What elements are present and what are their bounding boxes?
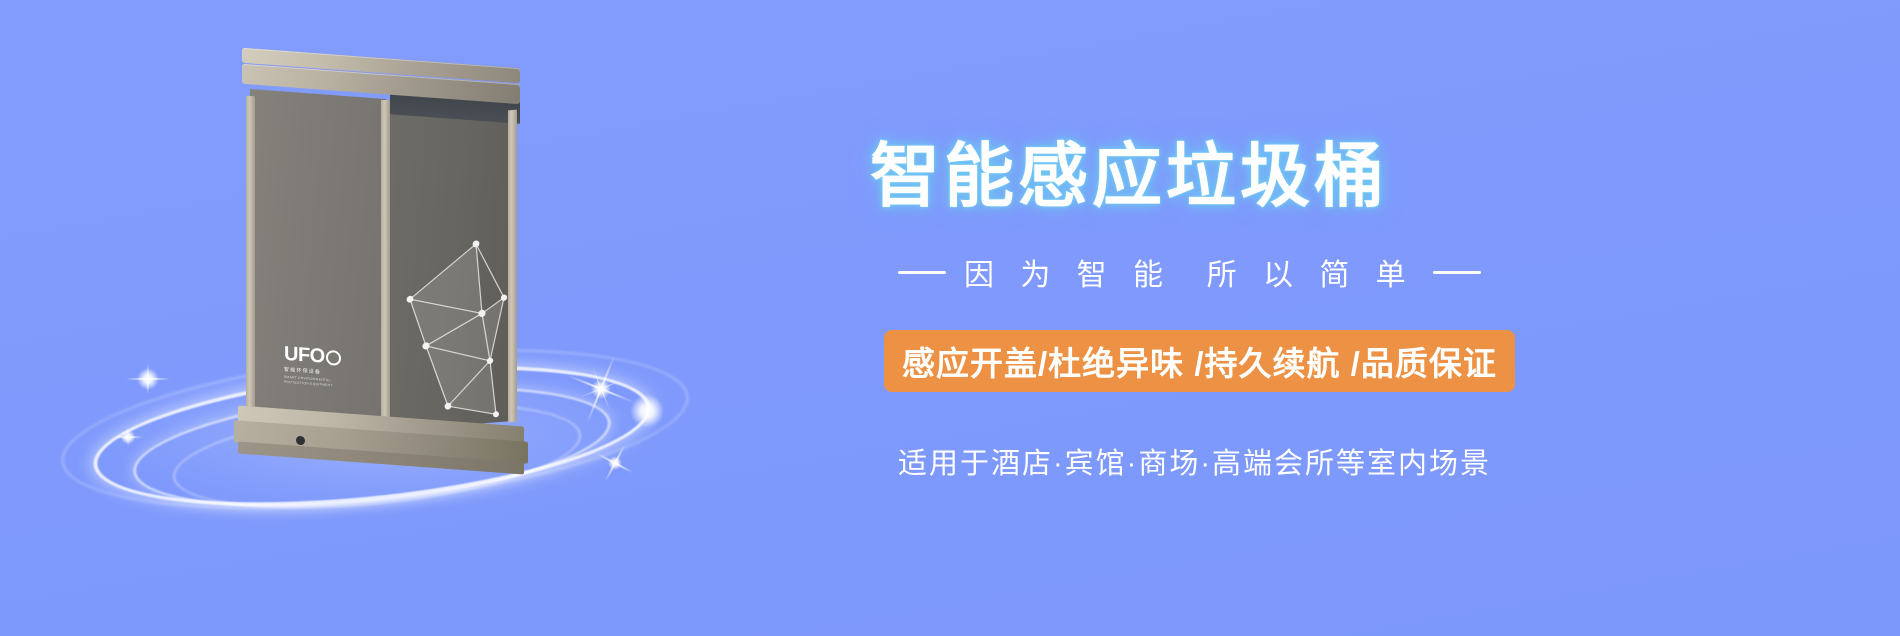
product-scene: UFO 智能环保设备 SMART ENVIRONMENTAL PROTECTIO…: [0, 0, 760, 636]
bin-network-graphic: [386, 101, 514, 431]
circle-ring-icon: [326, 349, 341, 365]
brand-logo: UFO 智能环保设备 SMART ENVIRONMENTAL PROTECTIO…: [284, 344, 344, 389]
promo-banner: UFO 智能环保设备 SMART ENVIRONMENTAL PROTECTIO…: [0, 0, 1900, 636]
brand-logo-mark: UFO: [284, 344, 344, 368]
sensor-dot-icon: [296, 436, 305, 446]
smart-trash-bin: UFO 智能环保设备 SMART ENVIRONMENTAL PROTECTIO…: [250, 58, 510, 438]
usage-scenes-text: 适用于酒店·宾馆·商场·高端会所等室内场景: [898, 440, 1491, 482]
copy-block: 智能感应垃圾桶 因 为 智 能 所 以 简 单 感应开盖/杜绝异味 /持久续航 …: [820, 0, 1900, 636]
tagline-rule-right: [1433, 271, 1481, 274]
features-badge: 感应开盖/杜绝异味 /持久续航 /品质保证: [884, 330, 1515, 392]
bin-edge-post-left: [246, 96, 255, 427]
brand-logo-text: UFO: [284, 344, 325, 367]
tagline-text: 因 为 智 能 所 以 简 单: [964, 250, 1415, 294]
page-title: 智能感应垃圾桶: [870, 120, 1388, 221]
bin-edge-post-center: [381, 100, 390, 430]
bin-edge-post-right: [508, 110, 517, 423]
features-badge-text: 感应开盖/杜绝异味 /持久续航 /品质保证: [902, 337, 1497, 385]
tagline-rule-left: [898, 271, 946, 274]
tagline: 因 为 智 能 所 以 简 单: [898, 250, 1481, 294]
